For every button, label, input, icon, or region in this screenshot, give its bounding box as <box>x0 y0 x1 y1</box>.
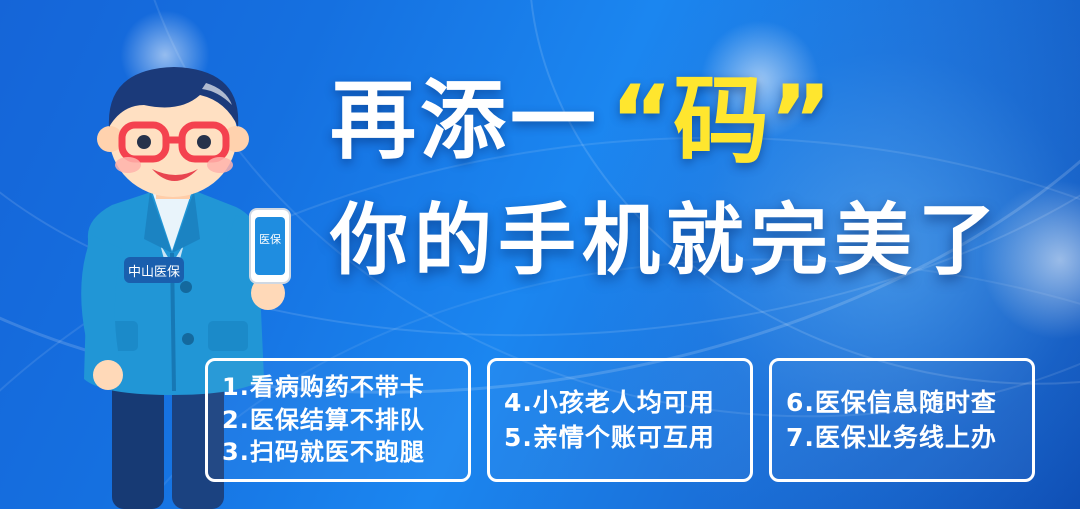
mascot-badge-label: 中山医保 <box>128 265 180 280</box>
feature-card-list: 1.看病购药不带卡 2.医保结算不排队 3.扫码就医不跑腿 4.小孩老人均可用 … <box>205 358 1035 482</box>
feature-card-2: 4.小孩老人均可用 5.亲情个账可互用 <box>487 358 753 482</box>
feature-item: 7.医保业务线上办 <box>786 420 1018 456</box>
headline-line-1-quoted: “码” <box>610 43 832 182</box>
headline-block: 再添一 “码” 你的手机就完美了 <box>330 52 1030 290</box>
feature-item: 4.小孩老人均可用 <box>504 385 736 421</box>
mascot-phone-screen-label: 医保 <box>259 232 281 246</box>
feature-item: 1.看病购药不带卡 <box>222 371 454 403</box>
headline-line-1-prefix: 再添一 <box>330 50 600 175</box>
headline-line-1: 再添一 “码” <box>330 52 1030 172</box>
feature-item: 5.亲情个账可互用 <box>504 420 736 456</box>
feature-item: 3.扫码就医不跑腿 <box>222 436 454 468</box>
feature-item: 6.医保信息随时查 <box>786 385 1018 421</box>
poster-canvas: 中山医保 医保 <box>0 0 1080 509</box>
feature-item: 2.医保结算不排队 <box>222 404 454 436</box>
headline-line-2: 你的手机就完美了 <box>330 178 1030 290</box>
feature-card-3: 6.医保信息随时查 7.医保业务线上办 <box>769 358 1035 482</box>
feature-card-1: 1.看病购药不带卡 2.医保结算不排队 3.扫码就医不跑腿 <box>205 358 471 482</box>
